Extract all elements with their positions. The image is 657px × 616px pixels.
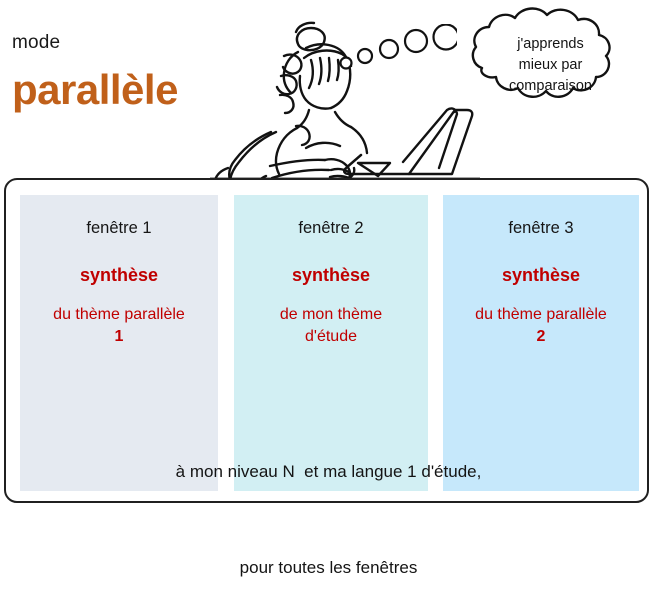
window-label-2: fenêtre 2 bbox=[234, 217, 428, 239]
synthese-heading-1: synthèse bbox=[20, 263, 218, 287]
mode-title: parallèle bbox=[12, 66, 178, 114]
panel-caption: à mon niveau N et ma langue 1 d'étude, p… bbox=[0, 392, 657, 616]
window-label-1: fenêtre 1 bbox=[20, 217, 218, 239]
subject-line-2-a: de mon thème bbox=[238, 304, 424, 326]
caption-line-1: à mon niveau N et ma langue 1 d'étude, bbox=[0, 456, 657, 488]
thought-bubble-text: j'apprendsmieux parcomparaison bbox=[448, 34, 653, 97]
subject-text-2: de mon thème d'étude bbox=[234, 304, 428, 348]
header-zone: mode parallèle bbox=[0, 0, 657, 178]
thought-bubble-line-3: comparaison bbox=[448, 76, 653, 97]
window-label-3: fenêtre 3 bbox=[443, 217, 639, 239]
synthese-heading-3: synthèse bbox=[443, 263, 639, 287]
subject-line-1-b: 1 bbox=[24, 326, 214, 348]
subject-line-3-b: 2 bbox=[447, 326, 635, 348]
subject-line-3-a: du thème parallèle bbox=[447, 304, 635, 326]
synthese-heading-2: synthèse bbox=[234, 263, 428, 287]
subject-text-1: du thème parallèle 1 bbox=[20, 304, 218, 348]
caption-line-2: pour toutes les fenêtres bbox=[0, 552, 657, 584]
thought-bubble-line-1: j'apprends bbox=[448, 34, 653, 55]
subject-line-2-b: d'étude bbox=[238, 326, 424, 348]
mode-label: mode bbox=[12, 32, 60, 54]
thought-trail-icon bbox=[337, 24, 457, 70]
subject-text-3: du thème parallèle 2 bbox=[443, 304, 639, 348]
subject-line-1-a: du thème parallèle bbox=[24, 304, 214, 326]
thought-bubble-line-2: mieux par bbox=[448, 55, 653, 76]
